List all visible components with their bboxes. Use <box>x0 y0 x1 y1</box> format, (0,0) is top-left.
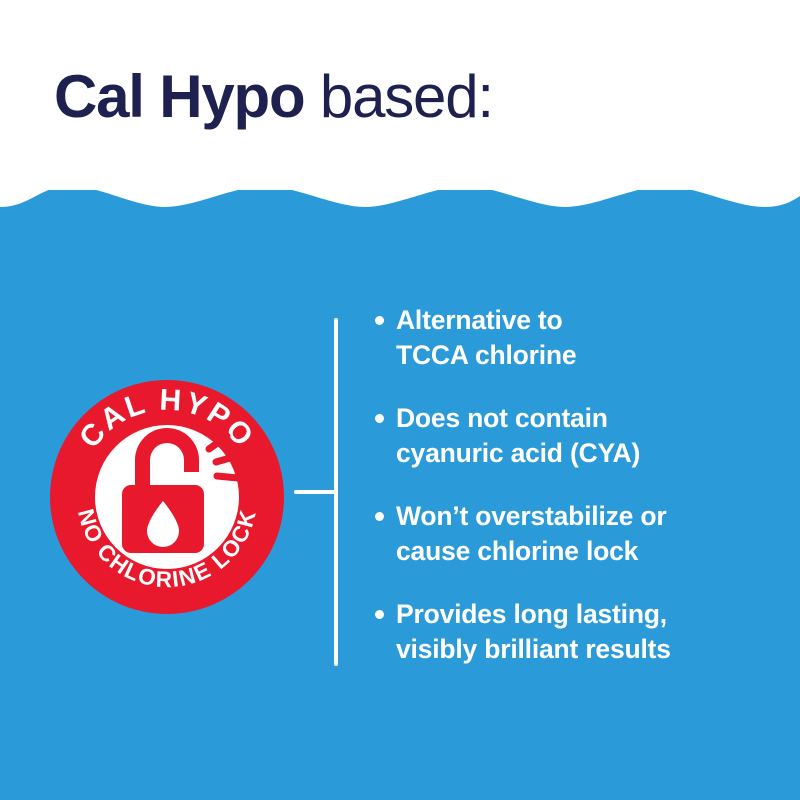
bullet-text: Does not contain cyanuric acid (CYA) <box>396 401 772 471</box>
bullet-dot-icon <box>375 512 384 521</box>
page-title-light: based: <box>304 63 492 130</box>
page-title-strong: Cal Hypo <box>54 63 304 130</box>
bullet-text: Provides long lasting, visibly brilliant… <box>396 597 772 667</box>
benefits-list: Alternative to TCCA chlorine Does not co… <box>372 303 772 667</box>
page-title: Cal Hypo based: <box>54 64 493 130</box>
bullet-dot-icon <box>375 316 384 325</box>
bullet-text: Alternative to TCCA chlorine <box>396 303 772 373</box>
list-item: Provides long lasting, visibly brilliant… <box>372 597 772 667</box>
bullet-dot-icon <box>375 610 384 619</box>
cal-hypo-badge: CAL HYPO NO CHLORINE LOCK <box>50 380 284 614</box>
bullet-dot-icon <box>375 414 384 423</box>
content-layer: Cal Hypo based: CAL HYPO NO CHLO <box>0 0 800 800</box>
bullet-text: Won’t overstabilize or cause chlorine lo… <box>396 499 772 569</box>
list-item: Does not contain cyanuric acid (CYA) <box>372 401 772 471</box>
divider-horizontal-tick <box>294 490 336 494</box>
list-item: Won’t overstabilize or cause chlorine lo… <box>372 499 772 569</box>
marketing-infographic-canvas: Cal Hypo based: CAL HYPO NO CHLO <box>0 0 800 800</box>
list-item: Alternative to TCCA chlorine <box>372 303 772 373</box>
divider-bracket <box>294 318 338 666</box>
